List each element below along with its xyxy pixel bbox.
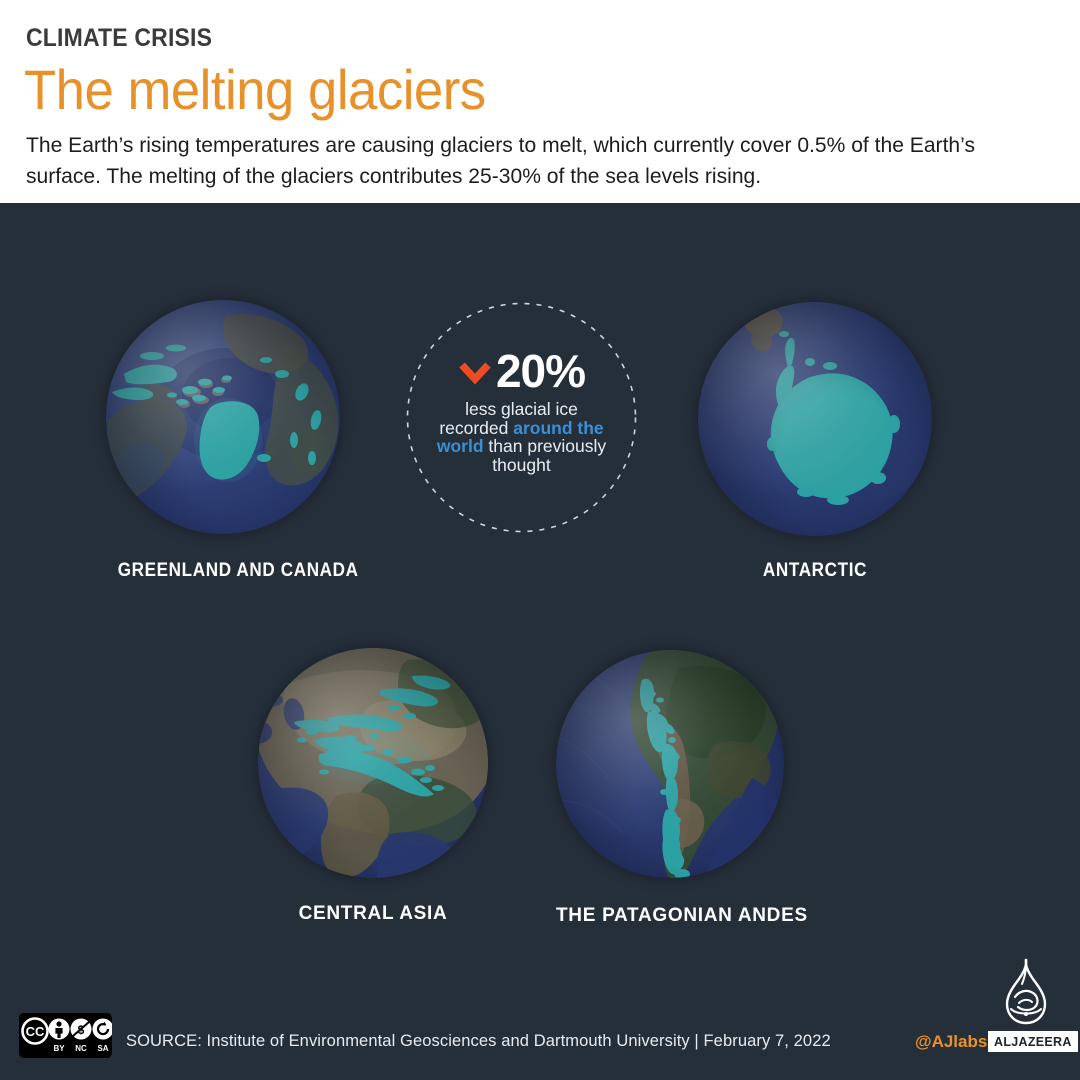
svg-text:CC: CC xyxy=(26,1024,45,1039)
globe-patagonian-andes-map xyxy=(556,650,784,878)
globe-patagonian-andes xyxy=(556,650,784,878)
globe-label-antarctic: ANTARCTIC xyxy=(710,560,921,582)
stat-value: 20% xyxy=(496,348,585,394)
globe-card-central-asia: CENTRAL ASIA xyxy=(258,648,488,878)
chevron-down-icon xyxy=(458,356,492,390)
stat-desc-tail: than previously thought xyxy=(484,436,607,475)
globe-antarctic xyxy=(698,302,932,536)
source-credit: SOURCE: Institute of Environmental Geosc… xyxy=(126,1032,831,1051)
ajlabs-handle[interactable]: @AJlabs xyxy=(915,1032,987,1052)
globe-central-asia-map xyxy=(258,648,488,878)
globe-card-antarctic: ANTARCTIC xyxy=(698,302,932,536)
svg-text:NC: NC xyxy=(75,1044,87,1053)
globe-card-patagonian-andes: THE PATAGONIAN ANDES xyxy=(556,650,784,878)
page-title: The melting glaciers xyxy=(24,58,486,122)
globe-greenland-and-canada-map xyxy=(106,300,340,534)
header: CLIMATE CRISIS The melting glaciers The … xyxy=(0,0,1080,203)
stat-description: less glacial ice recorded around the wor… xyxy=(406,400,637,474)
al-jazeera-logo-icon xyxy=(993,957,1057,1027)
globe-label-patagonian-andes: THE PATAGONIAN ANDES xyxy=(556,905,784,927)
page-kicker: CLIMATE CRISIS xyxy=(26,24,212,53)
stat-headline-row: 20% xyxy=(406,348,637,394)
globe-label-central-asia: CENTRAL ASIA xyxy=(258,903,488,925)
globe-greenland-and-canada xyxy=(106,300,340,534)
globe-label-greenland-and-canada: GREENLAND AND CANADA xyxy=(118,560,329,582)
globe-antarctic-map xyxy=(698,302,932,536)
page-standfirst: The Earth’s rising temperatures are caus… xyxy=(26,130,1035,192)
infographic-panel: GREENLAND AND CANADA xyxy=(0,203,1080,1080)
stat-callout-circle: 20% less glacial ice recorded around the… xyxy=(406,302,637,533)
svg-text:BY: BY xyxy=(53,1044,65,1053)
cc-license-icon: CC $ BY NC SA xyxy=(19,1013,112,1058)
globe-card-greenland-and-canada: GREENLAND AND CANADA xyxy=(106,300,340,534)
stat-content: 20% less glacial ice recorded around the… xyxy=(406,348,637,474)
svg-text:SA: SA xyxy=(97,1044,108,1053)
globe-central-asia xyxy=(258,648,488,878)
creative-commons-badge[interactable]: CC $ BY NC SA xyxy=(19,1013,112,1058)
aj-calligraphy-icon xyxy=(993,957,1057,1027)
aljazeera-wordmark: ALJAZEERA xyxy=(988,1031,1078,1052)
